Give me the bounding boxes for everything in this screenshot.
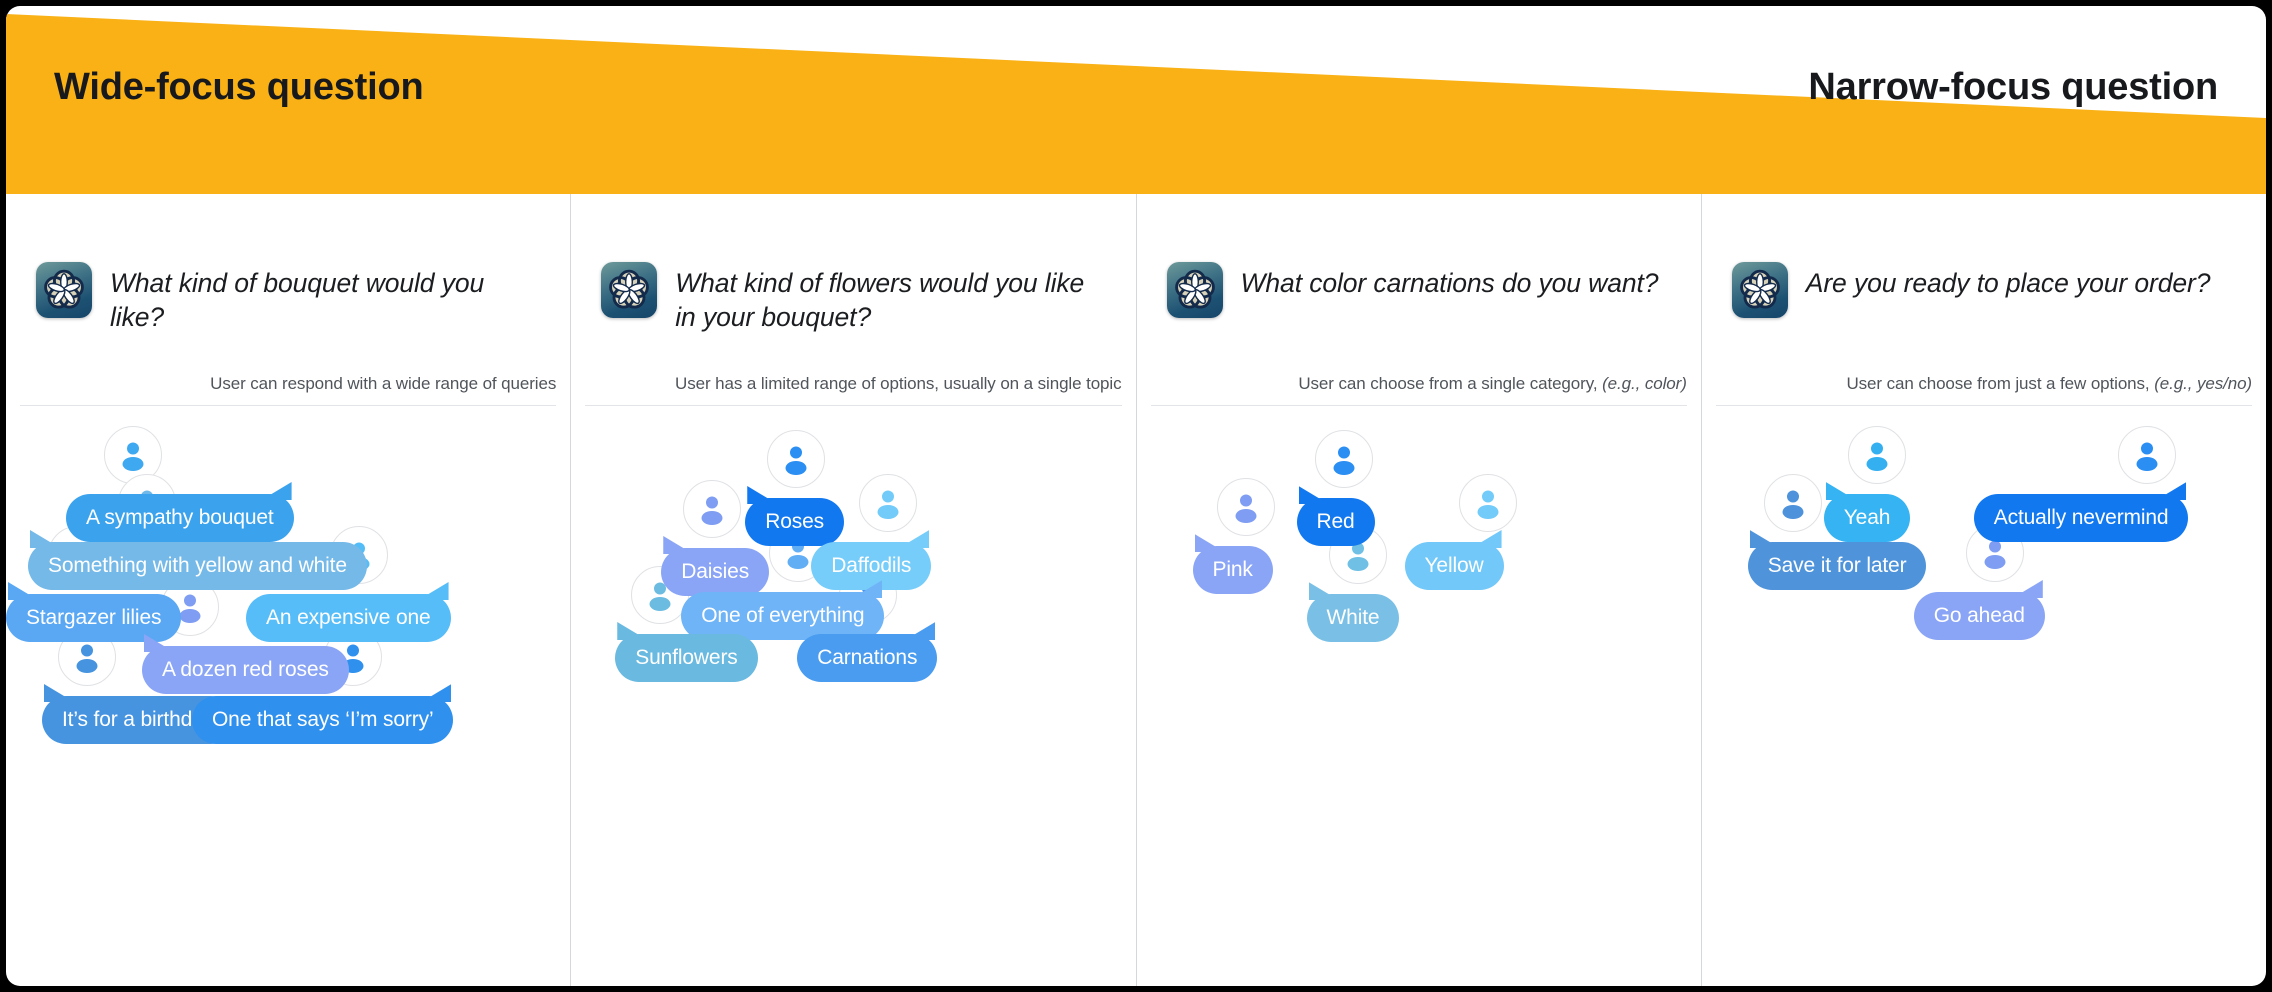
person-icon — [696, 493, 728, 525]
agent-question-text: What kind of flowers would you like in y… — [675, 262, 1101, 335]
user-reply-bubble[interactable]: Daisies — [661, 548, 769, 596]
person-icon — [1777, 487, 1809, 519]
column-caption: User can respond with a wide range of qu… — [20, 374, 556, 394]
user-avatar — [859, 474, 917, 532]
caption-plain-text: User can choose from a single category, — [1298, 374, 1602, 393]
agent-question-text: What kind of bouquet would you like? — [110, 262, 536, 335]
user-reply-cloud: RedPinkYellowWhite — [1137, 406, 1701, 966]
user-reply-bubble[interactable]: Stargazer lilies — [6, 594, 181, 642]
user-reply-bubble[interactable]: An expensive one — [246, 594, 451, 642]
user-reply-bubble[interactable]: A sympathy bouquet — [66, 494, 294, 542]
user-reply-bubble[interactable]: One of everything — [681, 592, 884, 640]
user-avatar — [767, 430, 825, 488]
question-column-2: What kind of flowers would you like in y… — [571, 194, 1136, 986]
user-reply-bubble[interactable]: Actually nevermind — [1974, 494, 2189, 542]
column-header: What color carnations do you want? — [1137, 194, 1701, 318]
column-caption: User can choose from a single category, … — [1151, 374, 1687, 394]
flower-rosette-icon — [41, 267, 87, 313]
caption-divider: User has a limited range of options, usu… — [585, 374, 1121, 406]
user-reply-bubble[interactable]: Sunflowers — [615, 634, 757, 682]
user-reply-bubble[interactable]: Yellow — [1405, 542, 1504, 590]
caption-example-text: (e.g., yes/no) — [2154, 374, 2252, 393]
user-reply-bubble[interactable]: White — [1307, 594, 1400, 642]
caption-plain-text: User has a limited range of options, usu… — [675, 374, 1121, 393]
person-icon — [2131, 439, 2163, 471]
user-reply-bubble[interactable]: Roses — [745, 498, 844, 546]
person-icon — [780, 443, 812, 475]
user-avatar — [1764, 474, 1822, 532]
caption-plain-text: User can respond with a wide range of qu… — [210, 374, 556, 393]
person-icon — [117, 439, 149, 471]
user-reply-bubble[interactable]: One that says ‘I’m sorry’ — [192, 696, 453, 744]
user-reply-bubble[interactable]: Carnations — [797, 634, 937, 682]
user-reply-bubble[interactable]: Daffodils — [811, 542, 931, 590]
person-icon — [1861, 439, 1893, 471]
column-header: What kind of bouquet would you like? — [6, 194, 570, 335]
user-avatar — [2118, 426, 2176, 484]
user-reply-bubble[interactable]: Save it for later — [1748, 542, 1927, 590]
caption-divider: User can respond with a wide range of qu… — [20, 374, 556, 406]
agent-question-text: Are you ready to place your order? — [1806, 262, 2211, 300]
user-avatar — [683, 480, 741, 538]
flower-rosette-icon — [606, 267, 652, 313]
user-reply-cloud: A sympathy bouquetSomething with yellow … — [6, 406, 570, 966]
caption-plain-text: User can choose from just a few options, — [1846, 374, 2154, 393]
focus-spectrum-banner: Wide-focus question Narrow-focus questio… — [6, 6, 2266, 194]
user-reply-bubble[interactable]: Yeah — [1824, 494, 1911, 542]
user-reply-bubble[interactable]: Pink — [1193, 546, 1273, 594]
flower-rosette-icon — [1737, 267, 1783, 313]
person-icon — [1230, 491, 1262, 523]
column-caption: User can choose from just a few options,… — [1716, 374, 2252, 394]
user-reply-bubble[interactable]: Red — [1297, 498, 1375, 546]
user-reply-bubble[interactable]: Something with yellow and white — [28, 542, 367, 590]
person-icon — [71, 641, 103, 673]
flower-rosette-logo — [1167, 262, 1223, 318]
caption-divider: User can choose from a single category, … — [1151, 374, 1687, 406]
user-reply-cloud: YeahActually nevermindSave it for laterG… — [1702, 406, 2266, 966]
person-icon — [1328, 443, 1360, 475]
wide-focus-label: Wide-focus question — [54, 66, 424, 109]
diagram-card: Wide-focus question Narrow-focus questio… — [6, 6, 2266, 986]
column-header: What kind of flowers would you like in y… — [571, 194, 1135, 335]
flower-rosette-logo — [601, 262, 657, 318]
flower-rosette-logo — [36, 262, 92, 318]
column-caption: User has a limited range of options, usu… — [585, 374, 1121, 394]
column-header: Are you ready to place your order? — [1702, 194, 2266, 318]
user-avatar — [1459, 474, 1517, 532]
user-avatar — [1315, 430, 1373, 488]
caption-example-text: (e.g., color) — [1602, 374, 1687, 393]
user-reply-bubble[interactable]: Go ahead — [1914, 592, 2045, 640]
agent-question-text: What color carnations do you want? — [1241, 262, 1659, 300]
narrow-focus-label: Narrow-focus question — [1808, 66, 2218, 109]
flower-rosette-logo — [1732, 262, 1788, 318]
user-avatar — [1217, 478, 1275, 536]
caption-divider: User can choose from just a few options,… — [1716, 374, 2252, 406]
question-column-4: Are you ready to place your order?User c… — [1702, 194, 2266, 986]
question-column-1: What kind of bouquet would you like?User… — [6, 194, 571, 986]
screenshot-root: Wide-focus question Narrow-focus questio… — [0, 0, 2272, 992]
user-avatar — [1848, 426, 1906, 484]
person-icon — [1472, 487, 1504, 519]
question-columns: What kind of bouquet would you like?User… — [6, 194, 2266, 986]
flower-rosette-icon — [1172, 267, 1218, 313]
user-reply-bubble[interactable]: A dozen red roses — [142, 646, 349, 694]
person-icon — [872, 487, 904, 519]
user-reply-cloud: RosesDaisiesDaffodilsOne of everythingSu… — [571, 406, 1135, 966]
question-column-3: What color carnations do you want?User c… — [1137, 194, 1702, 986]
